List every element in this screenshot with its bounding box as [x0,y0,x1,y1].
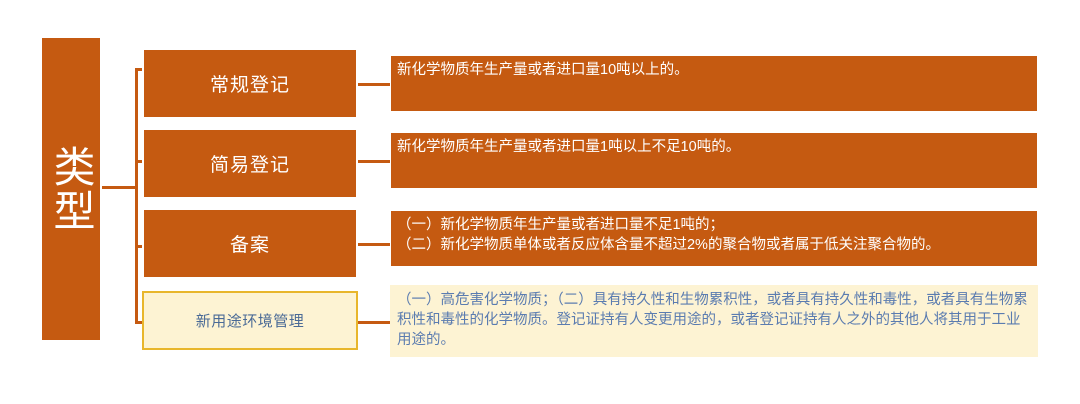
description-box-4[interactable]: （一）高危害化学物质；（二）具有持久性和生物累积性，或者具有持久性和毒性，或者具… [390,285,1038,357]
connector-link-1 [356,83,392,86]
description-text-4: （一）高危害化学物质；（二）具有持久性和生物累积性，或者具有持久性和毒性，或者具… [397,290,1031,350]
category-label-3: 备案 [230,230,270,257]
diagram-canvas: 类型 常规登记 新化学物质年生产量或者进口量10吨以上的。 简易登记 新化学物质… [0,0,1080,404]
root-node-label: 类型 [49,145,93,233]
category-box-4[interactable]: 新用途环境管理 [142,291,358,350]
connector-root-stub [102,186,138,189]
description-box-1[interactable]: 新化学物质年生产量或者进口量10吨以上的。 [390,55,1038,112]
category-label-4: 新用途环境管理 [196,310,305,331]
category-box-3[interactable]: 备案 [142,208,358,279]
description-text-3: （一）新化学物质年生产量或者进口量不足1吨的； （二）新化学物质单体或者反应体含… [397,215,1031,255]
connector-link-2 [356,160,392,163]
description-text-2: 新化学物质年生产量或者进口量1吨以上不足10吨的。 [397,137,1031,157]
connector-link-3 [356,243,392,246]
description-box-3[interactable]: （一）新化学物质年生产量或者进口量不足1吨的； （二）新化学物质单体或者反应体含… [390,210,1038,267]
description-text-1: 新化学物质年生产量或者进口量10吨以上的。 [397,60,1031,80]
category-box-1[interactable]: 常规登记 [142,48,358,119]
root-node-type[interactable]: 类型 [40,36,102,342]
connector-link-4 [356,321,392,324]
category-label-2: 简易登记 [210,150,290,177]
category-label-1: 常规登记 [210,70,290,97]
connector-spine [135,68,138,324]
category-box-2[interactable]: 简易登记 [142,128,358,199]
description-box-2[interactable]: 新化学物质年生产量或者进口量1吨以上不足10吨的。 [390,132,1038,189]
